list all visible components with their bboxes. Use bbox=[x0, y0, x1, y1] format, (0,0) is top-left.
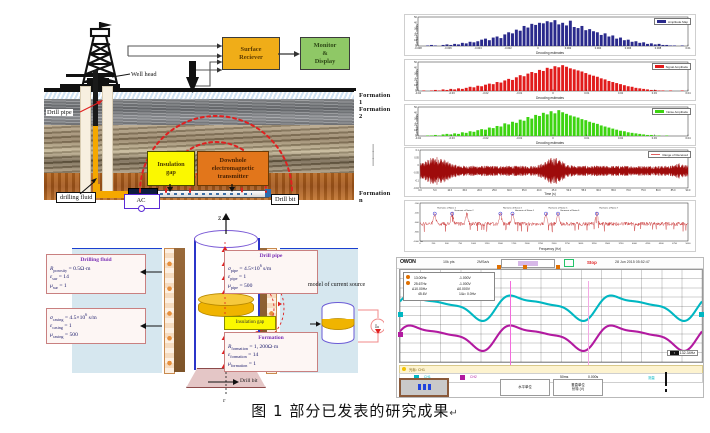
scope-frequency-readout-wrap: f 132.34Hz bbox=[667, 350, 698, 356]
histogram-red-plot: Sample Counts -0.04-0.03-0.02-0.0100.010… bbox=[404, 59, 696, 101]
ac-node-icon bbox=[138, 205, 145, 212]
svg-text:0.002: 0.002 bbox=[565, 46, 572, 50]
softkey-hunit-line1: 水平单位 bbox=[518, 385, 532, 389]
scope-menu-button[interactable] bbox=[399, 378, 449, 397]
right-margin-mark bbox=[665, 372, 667, 386]
svg-text:0.05: 0.05 bbox=[414, 158, 419, 160]
svg-text:20: 20 bbox=[414, 123, 417, 126]
waveform-xlabel: Time (s) bbox=[405, 192, 695, 196]
svg-text:z: z bbox=[218, 215, 221, 222]
formation-param-2: εformation = 14 bbox=[228, 352, 314, 361]
svg-text:20: 20 bbox=[414, 33, 417, 36]
svg-text:4000: 4000 bbox=[632, 243, 638, 245]
spectrum-canvas: Harmonic of Noise 1Harmonic of Noise 2Ha… bbox=[405, 201, 695, 251]
mud-column-left bbox=[174, 248, 185, 372]
svg-text:3000: 3000 bbox=[578, 243, 584, 245]
svg-text:250: 250 bbox=[432, 243, 436, 245]
freq-icon: f bbox=[670, 351, 679, 355]
insulation-gap-callout: Insulation gap bbox=[224, 316, 276, 330]
svg-text:50: 50 bbox=[414, 106, 417, 109]
scope-cursor-measurement-box: 13.00Hz -1.000V 25.67Hz -1.000V Δ10.00Hz… bbox=[403, 272, 495, 301]
current-source-model-label: model of current source bbox=[308, 282, 365, 288]
svg-text:1750: 1750 bbox=[511, 243, 517, 245]
drill-pipe-param-2: εpipe = 1 bbox=[228, 274, 314, 283]
scope-run-status: Stop bbox=[587, 260, 597, 265]
svg-text:10: 10 bbox=[414, 129, 417, 132]
downhole-transmitter-label: Downhole electromagnetic transmitter bbox=[212, 157, 255, 181]
trigger-slope-icon bbox=[564, 259, 574, 267]
svg-text:-0.02: -0.02 bbox=[483, 91, 489, 95]
svg-text:0: 0 bbox=[537, 46, 539, 50]
drill-pipe-upper bbox=[93, 70, 98, 128]
svg-text:Harmonic of Noise 2: Harmonic of Noise 2 bbox=[455, 209, 475, 212]
current-source-symbol: I₀ bbox=[375, 324, 379, 330]
svg-text:-0.1: -0.1 bbox=[415, 180, 420, 182]
svg-text:-1000: -1000 bbox=[413, 241, 419, 243]
svg-text:2000: 2000 bbox=[525, 243, 531, 245]
hist-green-legend-text: Noise Amplitude bbox=[666, 110, 688, 114]
meas-2-right: -1.000V bbox=[459, 282, 471, 286]
well-head-label: Well head bbox=[130, 71, 158, 78]
svg-text:40: 40 bbox=[414, 112, 417, 115]
figureb-drill-bit-label: Drill bit bbox=[240, 378, 258, 384]
svg-text:30: 30 bbox=[414, 118, 417, 121]
oscilloscope-screenshot: OWON 10k pts 2MSa/s Stop 28 Jun 2015 05:… bbox=[396, 257, 704, 398]
right-margin-dot bbox=[665, 389, 667, 392]
svg-text:30: 30 bbox=[414, 28, 417, 31]
hist-red-legend: Signal Amplitude bbox=[652, 63, 691, 70]
scope-softkey-bar: 水平单位 垂直单位 伏特 (V) bbox=[399, 379, 701, 395]
ch2-ground-marker-icon bbox=[398, 332, 403, 337]
paragraph-mark-icon: ↵ bbox=[449, 408, 458, 419]
drilling-fluid-params-title: Drilling fluid bbox=[50, 257, 142, 265]
svg-text:10: 10 bbox=[414, 39, 417, 42]
svg-text:3250: 3250 bbox=[592, 243, 598, 245]
hist-blue-xlabel: Decoding estimates bbox=[405, 51, 695, 55]
scope-sample-depth: 10k pts bbox=[443, 260, 455, 264]
svg-text:-0.004: -0.004 bbox=[474, 46, 482, 50]
svg-text:0: 0 bbox=[418, 165, 420, 167]
formation-1-label: Formation 1 bbox=[359, 92, 390, 106]
meas-3-right: Δ0.000V bbox=[457, 287, 470, 291]
svg-text:5000: 5000 bbox=[686, 243, 692, 245]
scope-position-bar[interactable] bbox=[501, 259, 555, 268]
histogram-green-plot: Sample Counts -0.04-0.03-0.02-0.0100.010… bbox=[404, 104, 696, 146]
svg-text:0.02: 0.02 bbox=[618, 91, 624, 95]
svg-text:0.01: 0.01 bbox=[685, 46, 691, 50]
casing-param-2: εcasing = 1 bbox=[50, 323, 142, 332]
svg-text:Harmonic of Noise 4: Harmonic of Noise 4 bbox=[515, 209, 535, 212]
surface-receiver-box[interactable]: Surface Reciever bbox=[222, 37, 280, 70]
drilling-fluid-param-2: εsur = 14 bbox=[50, 274, 142, 283]
wellhead-collar bbox=[87, 78, 109, 84]
ch1-right-marker-icon bbox=[699, 312, 704, 317]
spectrum-plot: Peak Magnitude (dBV) Harmonic of Noise 1… bbox=[404, 200, 696, 252]
figure-caption-text: 图 1 部分已发表的研究成果 bbox=[251, 402, 449, 420]
meas-4-left: 45.6V bbox=[418, 292, 452, 297]
svg-text:-0.01: -0.01 bbox=[516, 136, 522, 140]
drill-pipe-params-box: Drill pipe σpipe = 4.5×106 s/m εpipe = 1… bbox=[224, 250, 318, 294]
meas-row-4: 45.6V 1/Δ= 0.0Hz bbox=[406, 292, 492, 297]
drill-pipe-label: Drill pipe bbox=[46, 109, 73, 116]
formation-param-1: Rformation = 1, 200Ω·m bbox=[228, 344, 314, 353]
ch1-ground-marker-icon bbox=[398, 312, 403, 317]
svg-text:10: 10 bbox=[414, 84, 417, 87]
monitor-display-box[interactable]: Monitor & Display bbox=[300, 37, 350, 70]
svg-text:0: 0 bbox=[552, 136, 554, 140]
formation-ellipsis: ||| bbox=[369, 144, 377, 165]
casing-param-1: σcasing = 4.5×106 s/m bbox=[50, 311, 142, 323]
svg-text:750: 750 bbox=[458, 243, 462, 245]
svg-text:0.1: 0.1 bbox=[416, 150, 420, 152]
meas-1-right: -1.000V bbox=[459, 276, 471, 280]
scope-brand-label: OWON bbox=[400, 259, 416, 265]
hist-green-xlabel: Decoding estimates bbox=[405, 141, 695, 145]
formation-params-title: Formation bbox=[228, 335, 314, 343]
insulation-gap-label: Insulation gap bbox=[157, 161, 184, 177]
softkey-horizontal-unit[interactable]: 水平单位 bbox=[500, 379, 550, 396]
legend-swatch-icon bbox=[655, 65, 664, 69]
menu-bar-icon bbox=[428, 384, 431, 390]
svg-text:20: 20 bbox=[414, 78, 417, 81]
formation-n-label: Formation n bbox=[359, 190, 390, 204]
drilling-fluid-param-3: μsur = 1 bbox=[50, 283, 142, 292]
hist-red-legend-text: Signal Amplitude bbox=[666, 65, 688, 69]
cursor-status-icon bbox=[402, 367, 406, 371]
svg-text:30: 30 bbox=[414, 73, 417, 76]
monitor-display-label: Monitor & Display bbox=[314, 42, 337, 66]
svg-text:-0.16: -0.16 bbox=[414, 188, 420, 190]
svg-text:0.006: 0.006 bbox=[625, 46, 632, 50]
svg-text:-400: -400 bbox=[414, 212, 419, 214]
drilling-fluid-param-1: Rporosity = 0.5Ω·m bbox=[50, 266, 142, 275]
svg-text:2500: 2500 bbox=[552, 243, 558, 245]
svg-text:0.02: 0.02 bbox=[618, 136, 624, 140]
svg-text:0: 0 bbox=[552, 91, 554, 95]
menu-bar-icon bbox=[423, 384, 426, 390]
svg-text:-0.02: -0.02 bbox=[483, 136, 489, 140]
formation-param-3: μformation = 1 bbox=[228, 361, 314, 370]
formation-params-box: Formation Rformation = 1, 200Ω·m εformat… bbox=[224, 332, 318, 372]
svg-text:Harmonic of Noise 7: Harmonic of Noise 7 bbox=[599, 207, 619, 210]
svg-text:0.03: 0.03 bbox=[652, 136, 658, 140]
drilling-fluid-params-box: Drilling fluid Rporosity = 0.5Ω·m εsur =… bbox=[46, 254, 146, 294]
svg-text:4500: 4500 bbox=[659, 243, 665, 245]
cursor-line-1[interactable] bbox=[510, 281, 511, 373]
legend-swatch-icon bbox=[655, 110, 664, 114]
svg-text:-0.03: -0.03 bbox=[449, 91, 455, 95]
scope-header-bar: OWON 10k pts 2MSa/s Stop 28 Jun 2015 05:… bbox=[397, 258, 703, 269]
svg-text:1500: 1500 bbox=[498, 243, 504, 245]
noise-waveform-plot: Amplitude of noise (V) 0.05.010.015.020.… bbox=[404, 147, 696, 197]
casing-params-box: σcasing = 4.5×106 s/m εcasing = 1 μcasin… bbox=[46, 308, 146, 344]
svg-text:0: 0 bbox=[419, 243, 421, 245]
legend-swatch-icon bbox=[657, 20, 666, 24]
drill-bit-label: Drill bit bbox=[271, 194, 299, 205]
figure-page: AC bbox=[0, 0, 710, 433]
svg-text:Harmonic of Noise 6: Harmonic of Noise 6 bbox=[561, 209, 581, 212]
cursor-line-2[interactable] bbox=[588, 281, 589, 373]
svg-text:500: 500 bbox=[445, 243, 449, 245]
svg-text:-200: -200 bbox=[414, 203, 419, 205]
svg-text:3750: 3750 bbox=[619, 243, 625, 245]
drill-pipe-param-1: σpipe = 4.5×106 s/m bbox=[228, 262, 314, 274]
cursor-dot-2-icon bbox=[406, 281, 410, 285]
svg-text:-0.006: -0.006 bbox=[444, 46, 452, 50]
meas-1-left: 13.00Hz bbox=[414, 276, 444, 281]
cursor-dot-1-icon bbox=[406, 275, 410, 279]
left-figure-column: AC bbox=[0, 0, 390, 398]
svg-text:50: 50 bbox=[414, 16, 417, 19]
scope-cursor-mode: 光标: CH1 bbox=[409, 367, 425, 372]
waveform-legend: Range of Received bbox=[648, 151, 691, 158]
svg-text:-600: -600 bbox=[414, 222, 419, 224]
scope-datetime: 28 Jun 2015 05:52:47 bbox=[615, 260, 650, 264]
hist-green-legend: Noise Amplitude bbox=[652, 108, 691, 115]
svg-text:0.004: 0.004 bbox=[595, 46, 602, 50]
svg-text:0.01: 0.01 bbox=[584, 136, 590, 140]
svg-text:-0.05: -0.05 bbox=[414, 173, 420, 175]
histogram-blue-plot: Sample Counts -0.008-0.006-0.004-0.00200… bbox=[404, 14, 696, 56]
waveform-legend-text: Range of Received bbox=[662, 153, 688, 157]
svg-text:1000: 1000 bbox=[471, 243, 477, 245]
svg-text:2750: 2750 bbox=[565, 243, 571, 245]
hist-red-xlabel: Decoding estimates bbox=[405, 96, 695, 100]
casing-param-3: μcasing = 500 bbox=[50, 332, 142, 341]
figure-caption: 图 1 部分已发表的研究成果↵ bbox=[0, 400, 710, 421]
svg-text:0.008: 0.008 bbox=[655, 46, 662, 50]
modeling-schematic-figure: z r Iz bbox=[22, 212, 382, 398]
meas-4-right: 1/Δ= 0.0Hz bbox=[459, 292, 476, 296]
svg-text:-0.03: -0.03 bbox=[449, 136, 455, 140]
svg-text:40: 40 bbox=[414, 67, 417, 70]
downhole-transmitter-box[interactable]: Downhole electromagnetic transmitter bbox=[197, 151, 269, 186]
svg-text:0.01: 0.01 bbox=[584, 91, 590, 95]
drill-pipe-params-title: Drill pipe bbox=[228, 253, 314, 261]
hist-blue-legend-text: Amplitude Map bbox=[668, 20, 688, 24]
svg-text:-0.002: -0.002 bbox=[504, 46, 512, 50]
svg-text:4750: 4750 bbox=[672, 243, 678, 245]
svg-text:0.04: 0.04 bbox=[685, 136, 691, 140]
svg-text:40: 40 bbox=[414, 22, 417, 25]
svg-text:0.03: 0.03 bbox=[652, 91, 658, 95]
svg-text:4250: 4250 bbox=[645, 243, 651, 245]
svg-text:3500: 3500 bbox=[605, 243, 611, 245]
hist-blue-canvas: -0.008-0.006-0.004-0.00200.0020.0040.006… bbox=[405, 15, 695, 55]
softkey-vunit-line2: 伏特 (V) bbox=[572, 387, 584, 391]
svg-text:-800: -800 bbox=[414, 231, 419, 233]
scope-frequency-readout: 132.34Hz bbox=[680, 351, 695, 355]
well-schematic-figure: AC bbox=[16, 8, 384, 208]
softkey-vertical-unit[interactable]: 垂直单位 伏特 (V) bbox=[553, 379, 603, 396]
results-plots-column: Sample Counts -0.008-0.006-0.004-0.00200… bbox=[396, 14, 702, 396]
insulation-gap-box[interactable]: Insulation gap bbox=[147, 151, 195, 186]
svg-text:50: 50 bbox=[414, 61, 417, 64]
svg-text:0.04: 0.04 bbox=[685, 91, 691, 95]
scope-sample-rate: 2MSa/s bbox=[477, 260, 489, 264]
scope-bottom-panel: 光标: CH1 CH1 CH2 50ms 0.000s 测量 bbox=[399, 365, 701, 395]
svg-text:2250: 2250 bbox=[538, 243, 544, 245]
drill-pipe-param-3: μpipe = 500 bbox=[228, 283, 314, 292]
spectrum-xlabel: Frequency (Hz) bbox=[405, 247, 695, 251]
hist-blue-legend: Amplitude Map bbox=[654, 18, 691, 25]
menu-bar-icon bbox=[418, 384, 421, 390]
derrick-base-beam bbox=[66, 74, 114, 77]
legend-line-icon bbox=[651, 154, 660, 155]
svg-text:1250: 1250 bbox=[485, 243, 491, 245]
scope-position-marker bbox=[518, 261, 538, 266]
surface-receiver-label: Surface Reciever bbox=[239, 46, 263, 62]
svg-text:-0.01: -0.01 bbox=[516, 91, 522, 95]
formation-2-label: Formation 2 bbox=[359, 106, 390, 120]
